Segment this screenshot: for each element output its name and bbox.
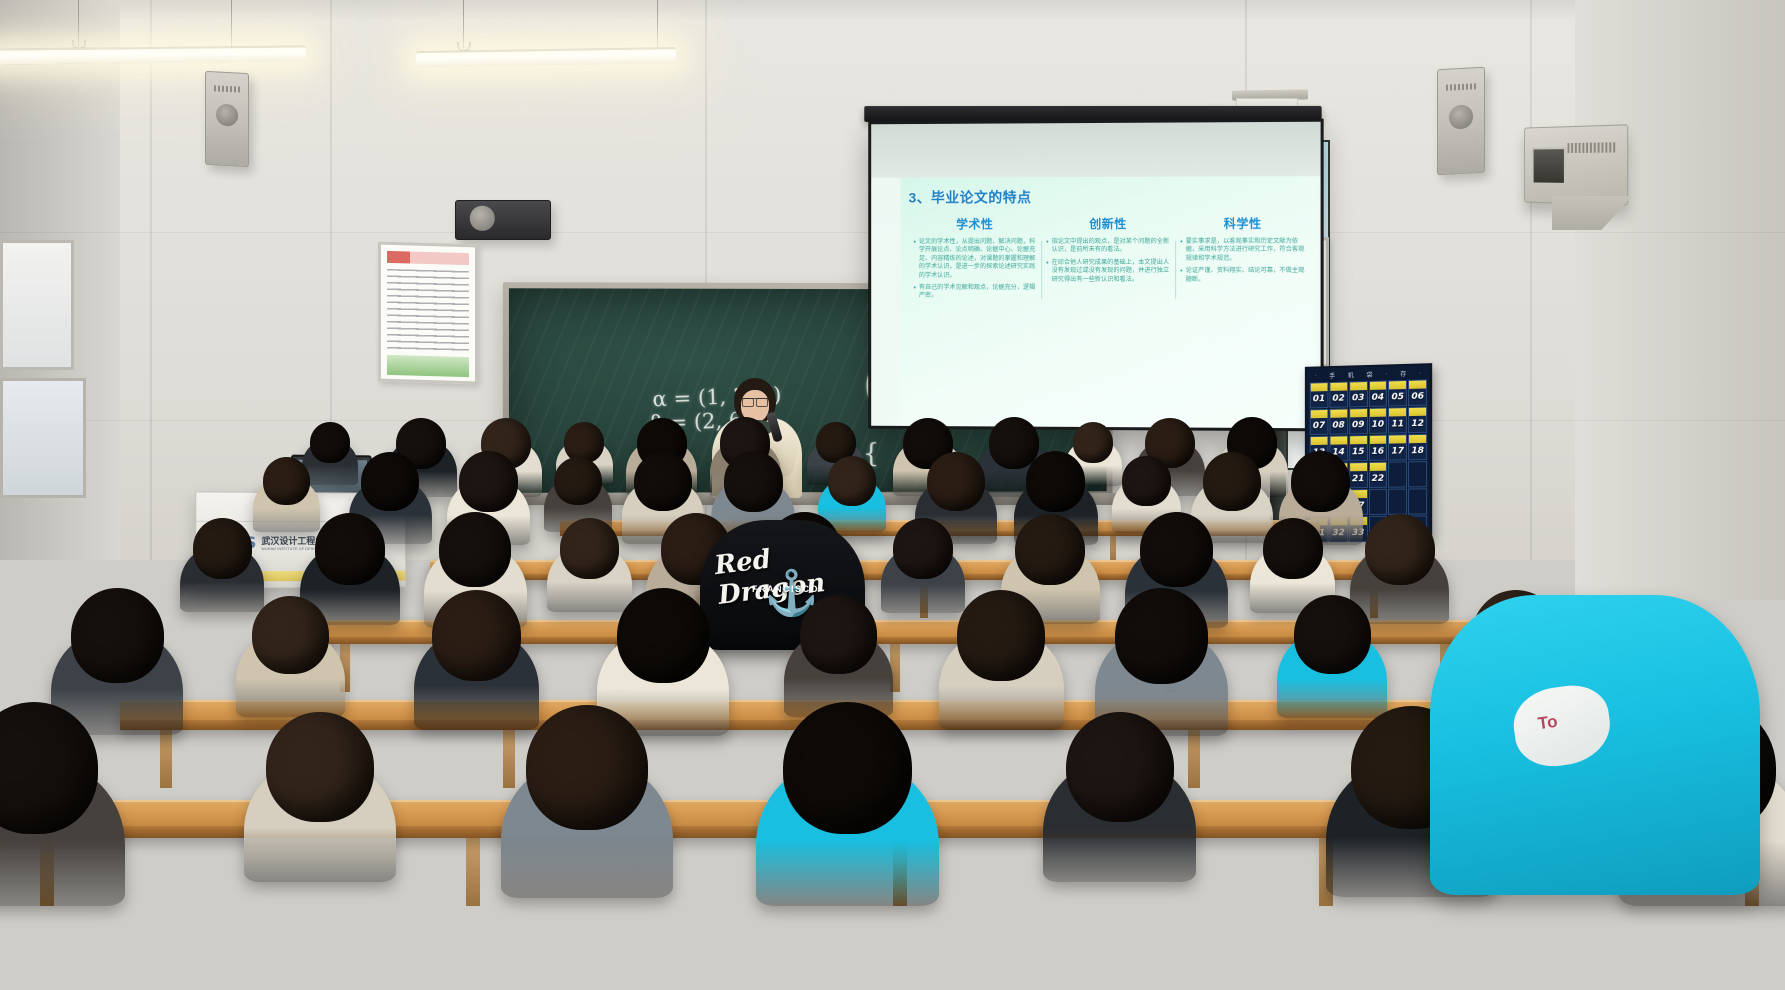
pocket-slot: 17	[1388, 434, 1407, 460]
audience-member	[266, 712, 373, 878]
pocket-slot: 03	[1349, 381, 1368, 407]
pocket-header-cell: 存	[1400, 369, 1407, 378]
audience-member	[893, 518, 953, 610]
audience-head	[927, 452, 985, 511]
pocket-number: 17	[1391, 446, 1404, 459]
projector-screen: 3、毕业论文的特点 学术性 • 论文的学术性，从提出问题、解决问题，科学开展论点…	[868, 119, 1323, 432]
ceiling-light	[0, 45, 306, 64]
pocket-flap	[1330, 436, 1347, 444]
pocket-number: 21	[1352, 474, 1364, 487]
pocket-number: 04	[1372, 393, 1384, 406]
bullet-dot: •	[1046, 259, 1048, 284]
pocket-slot: 05	[1388, 380, 1407, 407]
slide-columns: 学术性 • 论文的学术性，从提出问题、解决问题，科学开展论点、论点明确、论据中心…	[909, 215, 1311, 306]
pocket-flap	[1409, 380, 1426, 388]
screen-blank-area	[871, 122, 1320, 178]
pocket-header-cell: ·	[1385, 371, 1388, 377]
audience-head	[439, 512, 512, 587]
audience-head	[1203, 452, 1261, 511]
audience-head	[783, 702, 912, 834]
bullet-dot: •	[1180, 238, 1182, 263]
bullet-dot: •	[1180, 267, 1182, 284]
slide-bullet: • 指论文中提出的观点，是对某个问题的全新认识，是前所未有的看法。	[1046, 238, 1170, 255]
pocket-slot: 09	[1349, 408, 1368, 434]
audience-member	[263, 457, 310, 530]
audience-member	[1294, 595, 1371, 715]
bullet-dot: •	[913, 238, 915, 280]
pocket-slot: 04	[1368, 380, 1387, 407]
audience-head	[828, 456, 876, 505]
pocket-slot: 06	[1408, 379, 1427, 406]
audience-head	[554, 457, 602, 506]
pocket-number: 03	[1352, 393, 1364, 406]
pocket-header-cell: 袋	[1366, 370, 1373, 379]
audience-member	[800, 595, 877, 714]
slide-bullet: • 在综合他人研究成果的基础上，本文提出人没有发现过或没有发现的问题，并进行独立…	[1046, 259, 1170, 284]
pocket-flap	[1311, 383, 1328, 391]
audience-head	[724, 451, 783, 512]
audience-head	[361, 452, 419, 512]
bullet-text: 有自己的学术见解和观点，论据充分，逻辑严密。	[919, 284, 1036, 301]
slide-bullet: • 论证严谨、资料翔实、结论可靠，不做主观臆断。	[1180, 267, 1305, 284]
desk-leg	[503, 730, 515, 788]
pocket-flap	[1409, 435, 1426, 443]
bullet-text: 论文的学术性，从提出问题、解决问题，科学开展论点、论点明确、论据中心、论据充足、…	[919, 238, 1036, 280]
wall-seam	[1530, 0, 1532, 560]
bullet-text: 要实事求是，以客观事实和历史文献为依据，采用科学方法进行研究工作，符合客观规律和…	[1186, 238, 1306, 263]
pocket-flap	[1350, 409, 1367, 417]
pocket-flap	[1389, 408, 1406, 416]
audience-member	[1066, 712, 1174, 879]
pocket-number: 22	[1372, 474, 1384, 487]
pocket-flap	[1350, 436, 1367, 444]
bullet-text: 论证严谨、资料翔实、结论可靠，不做主观臆断。	[1186, 267, 1306, 284]
pocket-flap	[1330, 409, 1347, 417]
notice-header-bar	[387, 251, 469, 265]
pocket-slot: 18	[1408, 434, 1427, 461]
slide-column-heading: 学术性	[913, 215, 1036, 232]
audience-head	[1115, 588, 1208, 683]
classroom-photo: α = (1, 3, 6) β = (2, 6, k) ( 1 -1 0 0 0…	[0, 0, 1785, 990]
wall-speaker-center	[455, 200, 551, 240]
right-wall	[1575, 0, 1785, 600]
pocket-number: 01	[1313, 394, 1325, 407]
audience-member	[193, 518, 252, 610]
audience-head	[1291, 451, 1350, 512]
speaker-slot	[214, 85, 241, 92]
ceiling-band	[0, 0, 1785, 20]
pocket-slot: 01	[1310, 382, 1328, 408]
pocket-number: 15	[1352, 447, 1364, 460]
wall-speaker-left	[205, 71, 249, 167]
pocket-slot: 02	[1329, 382, 1348, 408]
audience-head	[1015, 514, 1085, 586]
audience-head	[957, 590, 1045, 680]
bullet-text: 在综合他人研究成果的基础上，本文提出人没有发现过或没有发现的问题，并进行独立研究…	[1052, 259, 1171, 284]
audience-head	[800, 595, 877, 674]
notice-footer-graphic	[387, 355, 469, 377]
audience-head	[617, 588, 710, 683]
blue-hoodie-student: To	[1430, 595, 1760, 895]
pocket-flap	[1369, 463, 1386, 471]
audience-head	[71, 588, 164, 683]
audience-member	[526, 705, 647, 893]
notice-board-left	[378, 242, 478, 385]
slide-column-academic: 学术性 • 论文的学术性，从提出问题、解决问题，科学开展论点、论点明确、论据中心…	[909, 215, 1042, 305]
ac-grille	[1532, 147, 1566, 185]
audience-head	[526, 705, 647, 829]
pocket-slot: 16	[1368, 435, 1387, 461]
audience-head	[1294, 595, 1371, 674]
pocket-flap	[1350, 382, 1367, 390]
pocket-slot-empty	[1408, 488, 1427, 514]
desk-leg	[1188, 730, 1200, 788]
desk-leg	[466, 838, 480, 906]
pocket-slot: 21	[1349, 462, 1368, 488]
audience-head	[310, 422, 350, 463]
pocket-number: 11	[1391, 419, 1404, 432]
pocket-flap	[1330, 383, 1347, 391]
audience-member	[783, 702, 912, 902]
pocket-flap	[1389, 435, 1406, 443]
audience-head	[432, 590, 521, 681]
pocket-number: 16	[1372, 447, 1384, 460]
pocket-flap	[1311, 437, 1328, 445]
audience-head	[560, 518, 619, 579]
pocket-slot: 15	[1349, 435, 1368, 461]
slide-column-scientific: 科学性 • 要实事求是，以客观事实和历史文献为依据，采用科学方法进行研究工作，符…	[1175, 215, 1310, 306]
wall-speaker-right	[1437, 67, 1485, 176]
audience-head	[263, 457, 310, 506]
audience-head	[1026, 451, 1085, 512]
left-window-upper	[0, 240, 74, 370]
audience-head	[252, 596, 329, 675]
pocket-flap	[1369, 409, 1386, 417]
glasses-icon	[742, 398, 768, 404]
left-window-lower	[0, 378, 86, 498]
slide-column-heading: 创新性	[1046, 215, 1170, 232]
audience-head	[634, 452, 692, 511]
light-wire	[657, 0, 658, 49]
pocket-slot-empty	[1388, 488, 1407, 514]
audience-member	[1365, 514, 1435, 622]
light-wire	[231, 0, 232, 47]
pocket-flap	[1311, 410, 1328, 418]
desk-leg	[160, 730, 172, 788]
audience-head	[1140, 512, 1213, 587]
audience-head	[893, 518, 953, 579]
pocket-number: 08	[1332, 421, 1344, 434]
bullet-dot: •	[913, 284, 915, 301]
pocket-slot-empty	[1408, 461, 1427, 487]
audience-member	[560, 518, 619, 610]
slide-column-heading: 科学性	[1180, 215, 1305, 232]
audience-head	[1066, 712, 1174, 822]
audience-head	[193, 518, 252, 579]
audience-member	[310, 422, 350, 483]
speaker-slot	[1446, 83, 1475, 91]
audience-member	[432, 590, 521, 727]
pocket-header-cell: ·	[1315, 373, 1318, 379]
pocket-number: 02	[1332, 394, 1344, 407]
bullet-dot: •	[1046, 238, 1048, 255]
presentation-slide: 3、毕业论文的特点 学术性 • 论文的学术性，从提出问题、解决问题，科学开展论点…	[901, 176, 1317, 428]
speaker-cone	[470, 206, 494, 230]
audience-head	[1365, 514, 1435, 585]
pocket-header-cell: 机	[1348, 370, 1355, 379]
hoodie-graphic-text: To	[1537, 712, 1559, 735]
audience-head	[459, 451, 518, 512]
pocket-slot: 12	[1408, 407, 1427, 434]
audience-head	[315, 513, 385, 585]
slide-title: 3、毕业论文的特点	[909, 186, 1311, 207]
pocket-slot: 08	[1329, 408, 1348, 434]
audience-member	[0, 702, 98, 902]
pocket-slot: 10	[1368, 408, 1387, 434]
pocket-flap	[1389, 381, 1406, 389]
pocket-number: 05	[1391, 392, 1404, 405]
speaker-cone	[216, 104, 238, 127]
pocket-flap	[1409, 408, 1426, 416]
pocket-number: 09	[1352, 420, 1364, 433]
audience-head	[1263, 518, 1323, 579]
audience-head	[1122, 456, 1170, 505]
slide-bullet: • 要实事求是，以客观事实和历史文献为依据，采用科学方法进行研究工作，符合客观规…	[1180, 238, 1305, 263]
pocket-number: 06	[1411, 392, 1424, 405]
pocket-header-cell: 手	[1329, 371, 1336, 380]
pocket-flap	[1369, 382, 1386, 390]
pocket-flap	[1350, 463, 1367, 471]
speaker-cone	[1449, 104, 1473, 129]
ac-vent	[1568, 142, 1618, 153]
pocket-number: 07	[1313, 421, 1325, 434]
notice-text-lines	[387, 269, 469, 355]
slide-bullet: • 论文的学术性，从提出问题、解决问题，科学开展论点、论点明确、论据中心、论据充…	[913, 238, 1036, 280]
audience-head	[266, 712, 373, 822]
pocket-slot: 11	[1388, 407, 1407, 434]
pocket-number: 10	[1372, 420, 1384, 433]
pocket-number: 12	[1411, 419, 1424, 432]
pocket-slot-empty	[1388, 461, 1407, 487]
slide-bullet: • 有自己的学术见解和观点，论据充分，逻辑严密。	[913, 284, 1036, 301]
pocket-slot-empty	[1368, 489, 1387, 515]
pocket-number: 18	[1411, 446, 1424, 459]
pocket-slot: 22	[1368, 462, 1387, 488]
slide-column-innovative: 创新性 • 指论文中提出的观点，是对某个问题的全新认识，是前所未有的看法。 • …	[1041, 215, 1175, 305]
wall-seam	[150, 0, 152, 560]
pocket-flap	[1369, 436, 1386, 444]
bullet-text: 指论文中提出的观点，是对某个问题的全新认识，是前所未有的看法。	[1052, 238, 1171, 255]
pocket-header-cell: ·	[1419, 370, 1422, 376]
air-conditioner-unit	[1524, 124, 1628, 205]
audience-member	[252, 596, 329, 715]
pocket-slot: 07	[1310, 409, 1328, 435]
audience-member	[957, 590, 1045, 727]
jacket-sub-text: FRANCISCO	[752, 584, 819, 594]
